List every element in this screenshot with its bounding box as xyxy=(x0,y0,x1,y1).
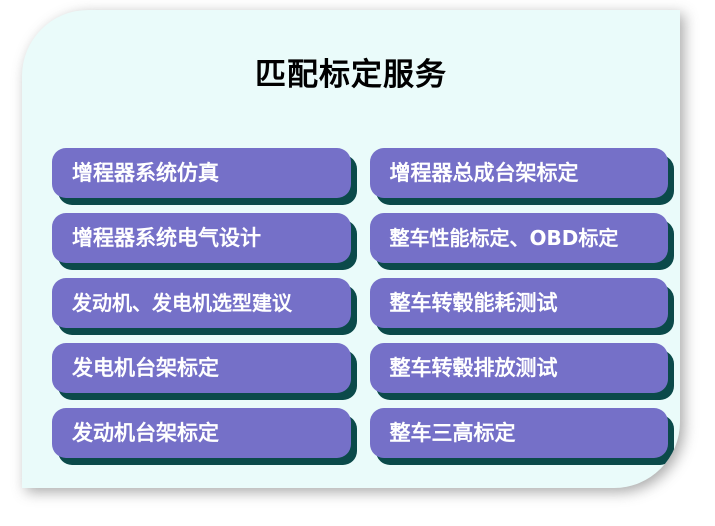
service-item-label: 整车转毂排放测试 xyxy=(390,358,558,379)
service-item-left-2[interactable]: 增程器系统电气设计 xyxy=(52,213,351,263)
service-item-right-5[interactable]: 整车三高标定 xyxy=(370,408,669,458)
service-item-right-3[interactable]: 整车转毂能耗测试 xyxy=(370,278,669,328)
service-item-left-3[interactable]: 发动机、发电机选型建议 xyxy=(52,278,351,328)
service-item-right-1[interactable]: 增程器总成台架标定 xyxy=(370,148,669,198)
service-item-label: 发动机、发电机选型建议 xyxy=(72,293,292,313)
page-title: 匹配标定服务 xyxy=(22,58,680,92)
left-column: 增程器系统仿真 增程器系统电气设计 发动机、发电机选型建议 发电机台架标定 发动… xyxy=(52,148,351,458)
service-item-left-5[interactable]: 发动机台架标定 xyxy=(52,408,351,458)
service-item-left-1[interactable]: 增程器系统仿真 xyxy=(52,148,351,198)
right-column: 增程器总成台架标定 整车性能标定、OBD标定 整车转毂能耗测试 整车转毂排放测试… xyxy=(370,148,669,458)
service-item-right-2[interactable]: 整车性能标定、OBD标定 xyxy=(370,213,669,263)
service-item-label: 整车三高标定 xyxy=(390,423,516,444)
service-columns: 增程器系统仿真 增程器系统电气设计 发动机、发电机选型建议 发电机台架标定 发动… xyxy=(52,148,668,458)
service-item-label: 发动机台架标定 xyxy=(72,423,219,444)
service-item-label: 增程器总成台架标定 xyxy=(390,163,579,184)
slide-canvas: 匹配标定服务 增程器系统仿真 增程器系统电气设计 发动机、发电机选型建议 发电机… xyxy=(0,0,715,526)
service-item-left-4[interactable]: 发电机台架标定 xyxy=(52,343,351,393)
service-item-label: 增程器系统仿真 xyxy=(72,163,219,184)
service-item-label: 整车性能标定、OBD标定 xyxy=(390,228,619,248)
service-item-label: 增程器系统电气设计 xyxy=(72,228,261,249)
content-panel: 匹配标定服务 增程器系统仿真 增程器系统电气设计 发动机、发电机选型建议 发电机… xyxy=(22,10,680,488)
service-item-right-4[interactable]: 整车转毂排放测试 xyxy=(370,343,669,393)
service-item-label: 发电机台架标定 xyxy=(72,358,219,379)
service-item-label: 整车转毂能耗测试 xyxy=(390,293,558,314)
